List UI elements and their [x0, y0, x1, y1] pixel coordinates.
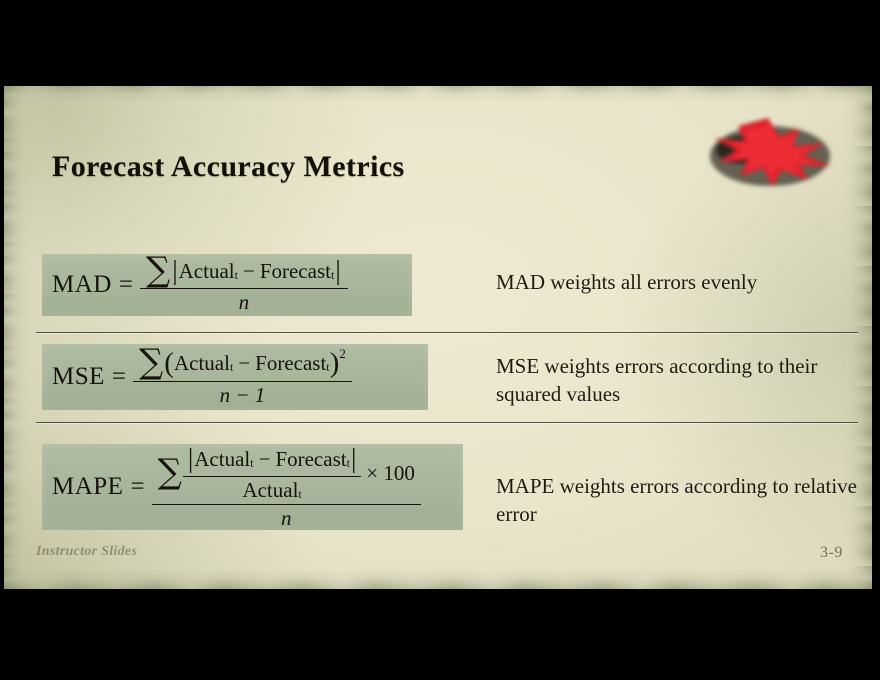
- numerator-mse: ∑ ( Actual t − Forecast t ) 2: [133, 347, 352, 382]
- formula-label-mad: MAD: [42, 271, 112, 299]
- formula-mad: MAD = ∑ | Actual t − Forecast t | n: [42, 254, 412, 316]
- term-actual: Actual: [179, 259, 235, 284]
- formula-box-mse: MSE = ∑ ( Actual t − Forecast t ) 2: [42, 344, 428, 410]
- term-forecast: Forecast: [275, 447, 346, 472]
- abs-bar-open: |: [187, 444, 194, 474]
- paper-torn-edge-top: [4, 86, 872, 102]
- subscript-t-actual: t: [250, 456, 253, 471]
- formula-label-mape: MAPE: [42, 473, 123, 501]
- description-mad: MAD weights all errors evenly: [496, 268, 846, 296]
- footer-note: Instructor Slides: [36, 544, 137, 560]
- term-actual: Actual: [194, 447, 250, 472]
- summation-icon: ∑: [139, 349, 163, 376]
- divider-rule-1: [36, 332, 858, 334]
- divider-rule-2: [36, 422, 858, 424]
- term-forecast: Forecast: [260, 259, 331, 284]
- formula-box-mape: MAPE = ∑ | Actual t − Forecast t: [42, 444, 463, 530]
- slide-title: Forecast Accuracy Metrics: [52, 150, 405, 184]
- denominator-n-minus-1: n − 1: [220, 383, 266, 408]
- numerator-mad: ∑ | Actual t − Forecast t |: [140, 256, 348, 289]
- subscript-t-actual: t: [235, 268, 238, 283]
- paren-open: (: [164, 347, 174, 380]
- minus-operator: −: [254, 447, 276, 472]
- description-mse: MSE weights errors according to their sq…: [496, 352, 868, 408]
- subscript-t-actual-denominator: t: [298, 487, 301, 502]
- equals-sign-mse: =: [105, 363, 133, 391]
- denominator-mape: n: [275, 505, 298, 531]
- paper-torn-edge-bottom: [4, 569, 872, 589]
- fraction-mape: ∑ | Actual t − Forecast t |: [152, 444, 421, 530]
- paren-close: ): [330, 347, 340, 380]
- description-mape: MAPE weights errors according to relativ…: [496, 472, 868, 528]
- denominator-mad: n: [233, 289, 256, 315]
- abs-bar-open: |: [171, 255, 178, 286]
- subscript-t-forecast: t: [326, 360, 329, 375]
- abs-bar-close: |: [350, 444, 357, 474]
- denominator-n: n: [239, 290, 250, 315]
- paper-torn-edge-left: [4, 86, 30, 589]
- page-number: 3-9: [820, 544, 843, 562]
- summation-icon: ∑: [158, 459, 182, 486]
- fraction-mad: ∑ | Actual t − Forecast t | n: [140, 256, 348, 315]
- exponent-two: 2: [339, 346, 346, 362]
- denominator-mse: n − 1: [214, 382, 272, 408]
- video-viewport: Forecast Accuracy Metrics MAD = ∑ | Actu…: [0, 0, 880, 680]
- summation-icon: ∑: [146, 257, 170, 284]
- multiplier-100: × 100: [361, 461, 415, 486]
- inner-fraction-mape: | Actual t − Forecast t | Actual t: [183, 444, 361, 503]
- formula-mse: MSE = ∑ ( Actual t − Forecast t ) 2: [42, 344, 428, 410]
- minus-operator: −: [233, 351, 255, 376]
- fraction-mse: ∑ ( Actual t − Forecast t ) 2 n − 1: [133, 347, 352, 408]
- formula-box-mad: MAD = ∑ | Actual t − Forecast t | n: [42, 254, 412, 316]
- term-forecast: Forecast: [255, 351, 326, 376]
- minus-operator: −: [238, 259, 260, 284]
- abs-bar-close: |: [334, 255, 341, 286]
- equals-sign-mad: =: [112, 271, 140, 299]
- inner-denominator-mape: Actual t: [238, 477, 305, 503]
- inner-numerator-mape: | Actual t − Forecast t |: [183, 444, 361, 477]
- formula-mape: MAPE = ∑ | Actual t − Forecast t: [42, 444, 463, 530]
- term-actual: Actual: [174, 351, 230, 376]
- equals-sign-mape: =: [123, 473, 151, 501]
- denominator-n: n: [281, 506, 292, 531]
- red-maple-leaf-logo-icon: [700, 110, 840, 192]
- formula-label-mse: MSE: [42, 363, 105, 391]
- term-actual-denominator: Actual: [242, 478, 298, 503]
- subscript-t-actual: t: [230, 360, 233, 375]
- numerator-mape: ∑ | Actual t − Forecast t |: [152, 444, 421, 505]
